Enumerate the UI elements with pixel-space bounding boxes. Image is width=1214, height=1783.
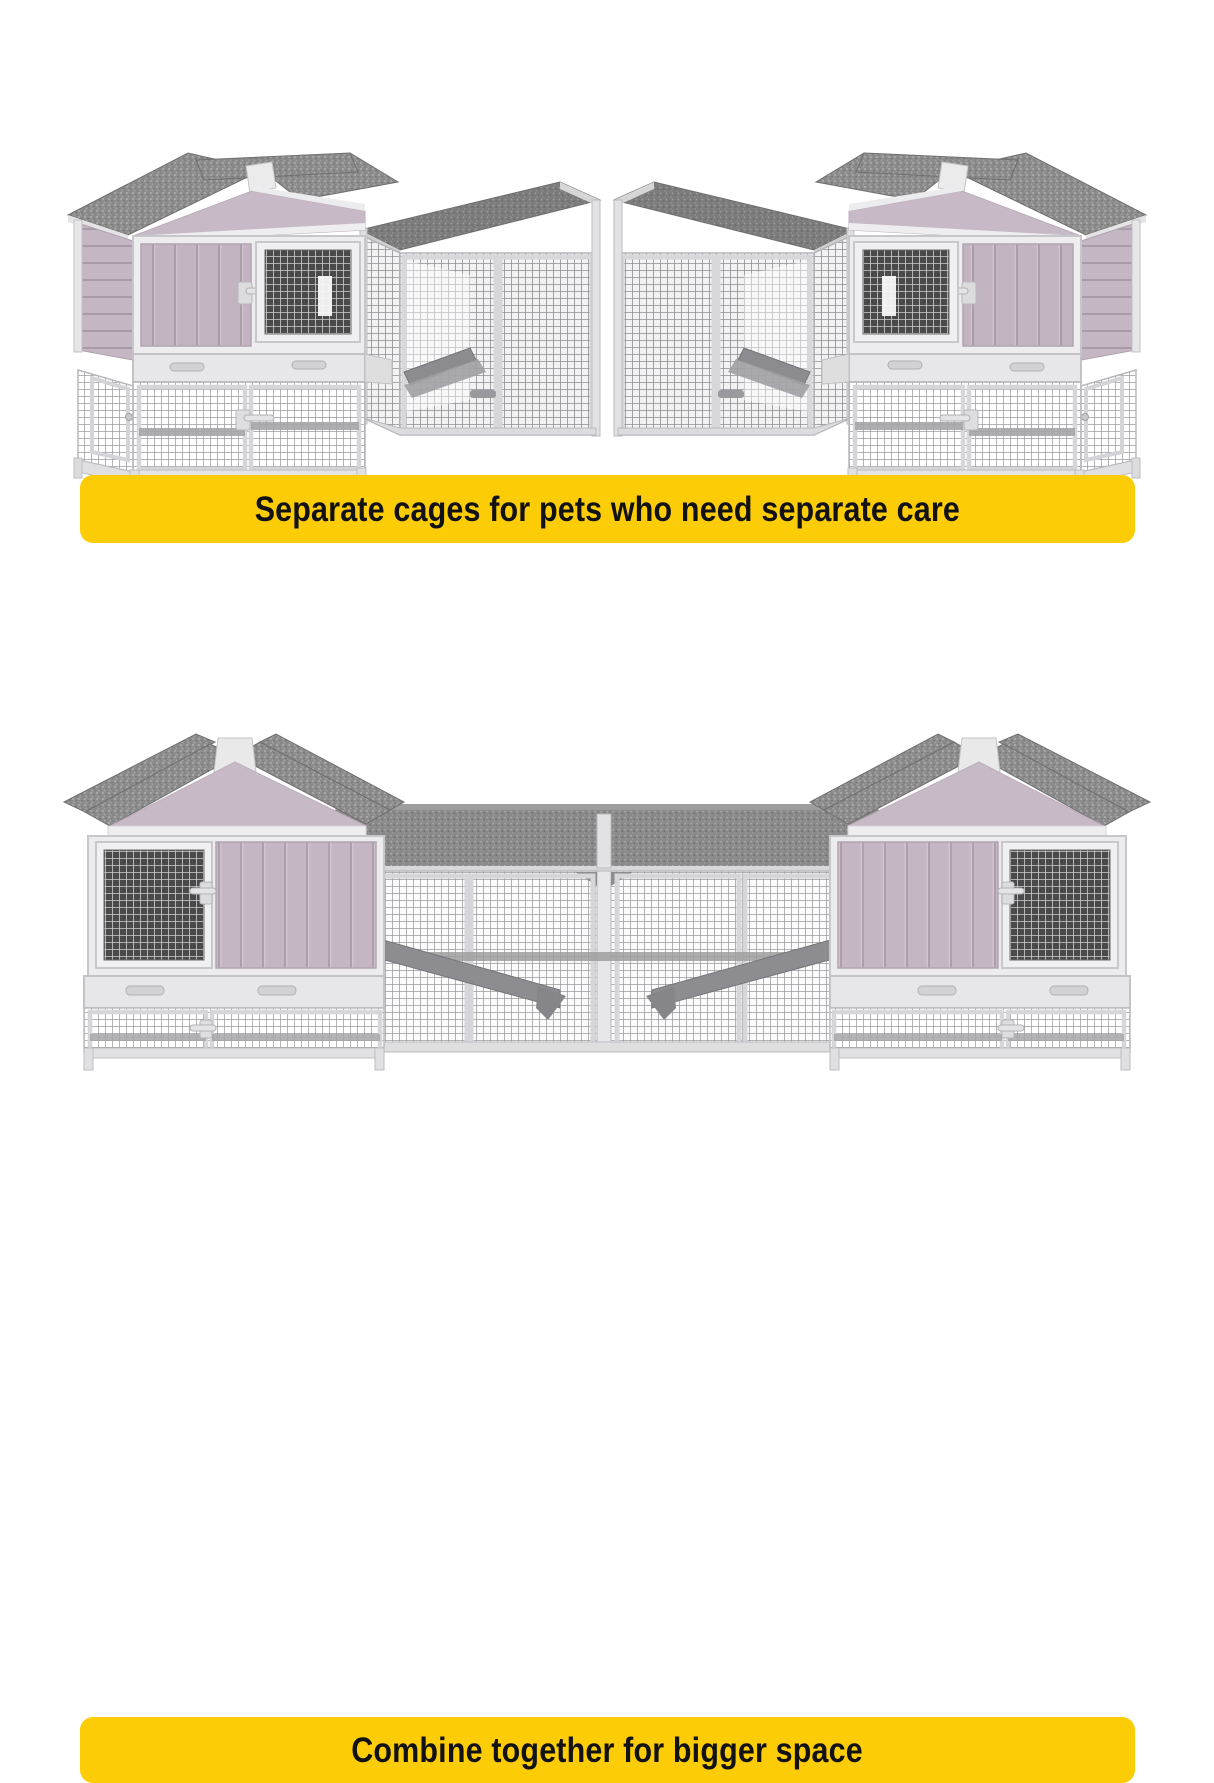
center-shared-run	[336, 804, 878, 1052]
product-feature-page: Separate cages for pets who need separat…	[0, 0, 1214, 1214]
illustration-combined-hutch	[0, 690, 1214, 1090]
caption-text-combined: Combine together for bigger space	[352, 1733, 864, 1768]
left-hutch-house	[68, 153, 398, 490]
section-combined-cage: Combine together for bigger space	[0, 607, 1214, 1214]
caption-banner-separate: Separate cages for pets who need separat…	[80, 475, 1135, 543]
right-hutch-unit	[614, 153, 1146, 490]
illustration-two-separate-hutches	[0, 60, 1214, 490]
right-run-extension	[614, 182, 854, 436]
caption-text-separate: Separate cages for pets who need separat…	[255, 492, 960, 527]
caption-banner-combined: Combine together for bigger space	[80, 1717, 1135, 1783]
left-run-extension	[360, 182, 600, 436]
left-hutch-unit	[68, 153, 600, 490]
left-hutch-tower	[64, 734, 404, 1070]
right-hutch-tower	[810, 734, 1150, 1070]
right-hutch-house	[816, 153, 1146, 490]
section-separate-cages: Separate cages for pets who need separat…	[0, 0, 1214, 607]
